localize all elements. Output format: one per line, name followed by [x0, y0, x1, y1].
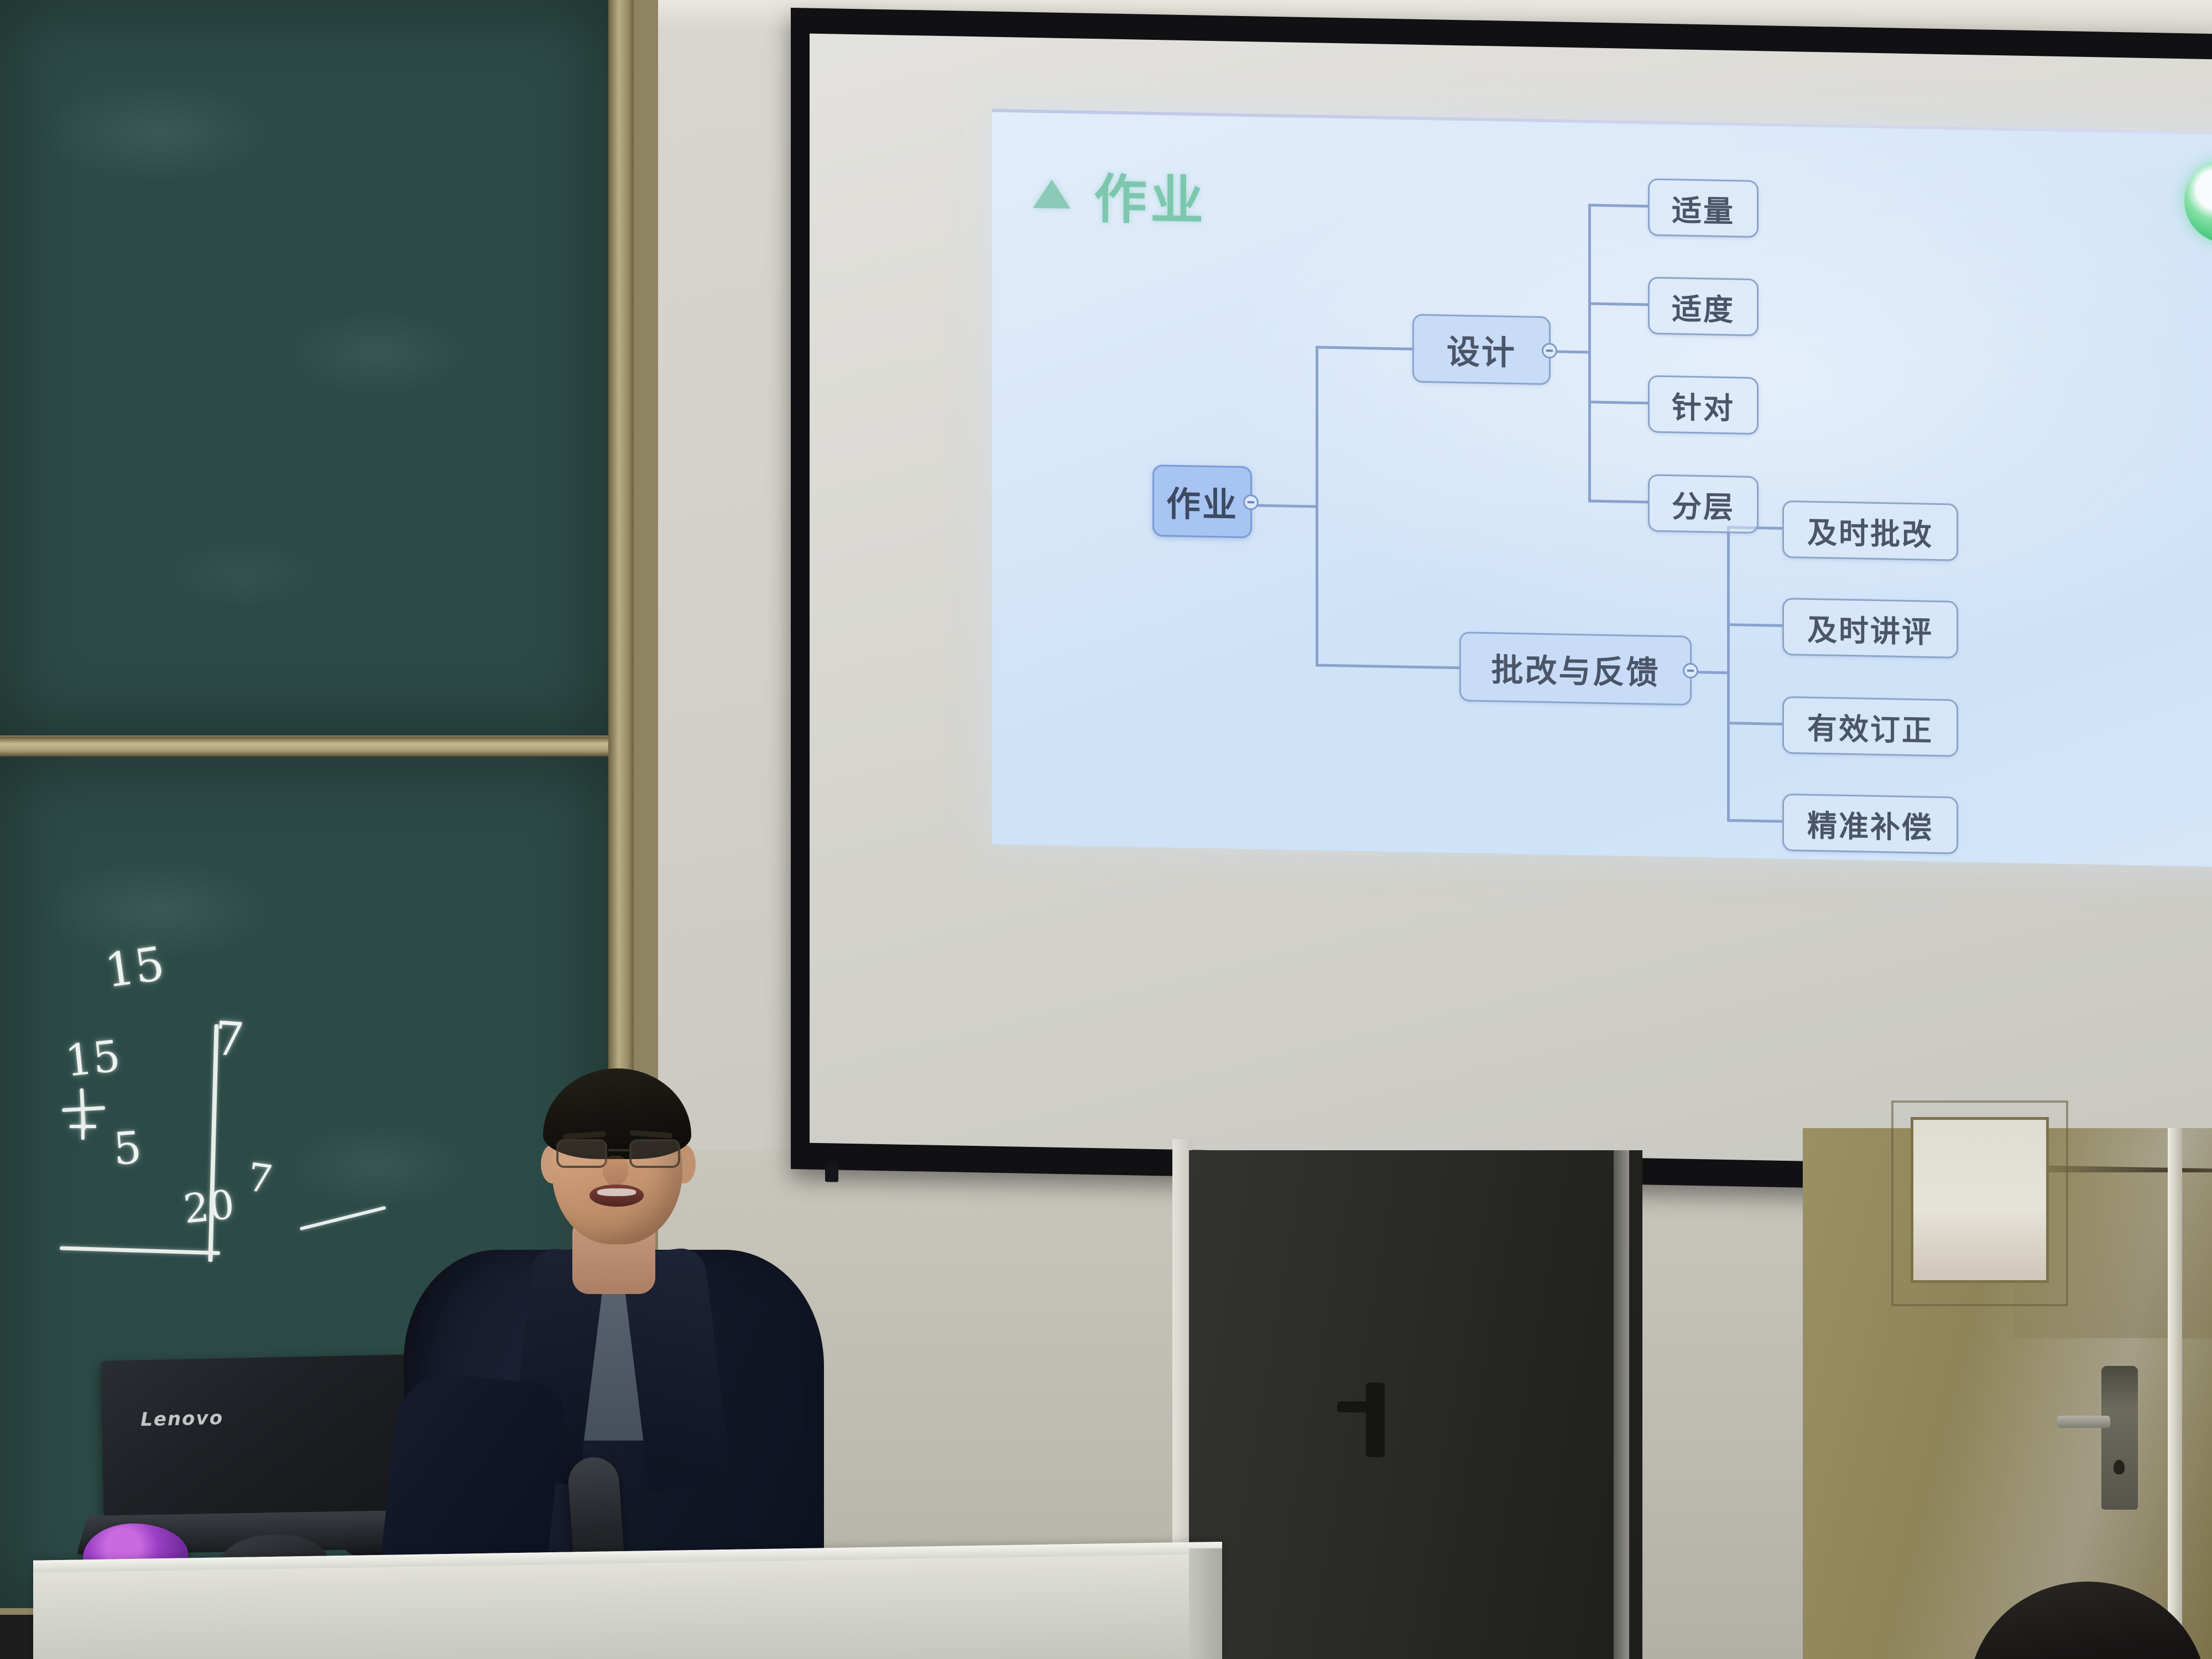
- door-jamb-right: [2168, 1128, 2182, 1659]
- mindmap-leaf[interactable]: 适量: [1648, 178, 1759, 238]
- mindmap-link: [1252, 504, 1318, 508]
- mindmap-leaf-label: 有效订正: [1807, 703, 1933, 749]
- glasses-lens-left: [556, 1139, 607, 1168]
- homework-mindmap: 作业 设计 批改与反馈 适量 适度: [992, 109, 2212, 868]
- teacher-nose: [603, 1156, 628, 1186]
- mindmap-root-node[interactable]: 作业: [1152, 465, 1252, 538]
- lecturing-teacher: [404, 1067, 824, 1620]
- lenovo-laptop[interactable]: Lenovo: [101, 1354, 414, 1527]
- door-edge-light: [1614, 1150, 1629, 1659]
- mindmap-branch-feedback[interactable]: 批改与反馈: [1459, 632, 1692, 706]
- mindmap-leaf-label: 精准补偿: [1807, 801, 1933, 847]
- collapse-toggle-icon[interactable]: [1542, 343, 1557, 359]
- door-handle-dark[interactable]: [1366, 1383, 1385, 1457]
- mindmap-leaf[interactable]: 精准补偿: [1782, 794, 1958, 854]
- mindmap-leaf[interactable]: 及时讲评: [1782, 598, 1958, 659]
- mindmap-link: [1727, 623, 1782, 627]
- mindmap-leaf[interactable]: 及时批改: [1782, 500, 1958, 561]
- mindmap-leaf-label: 及时讲评: [1807, 605, 1933, 651]
- glasses-lens-right: [629, 1139, 680, 1168]
- mindmap-link: [1727, 819, 1782, 823]
- podium-side: [1189, 1548, 1222, 1659]
- mindmap-leaf[interactable]: 适度: [1648, 276, 1759, 336]
- mindmap-leaf[interactable]: 分层: [1648, 474, 1759, 534]
- mindmap-link: [1316, 346, 1318, 666]
- screen-weight-tab: [825, 1163, 838, 1182]
- mindmap-branch-label: 设计: [1447, 325, 1516, 374]
- mindmap-leaf-label: 适量: [1672, 186, 1735, 231]
- projection-screen: 作业: [791, 8, 2212, 1195]
- mindmap-link: [1316, 346, 1412, 350]
- mindmap-root-label: 作业: [1166, 476, 1238, 526]
- door-keyhole-icon: [2114, 1460, 2125, 1474]
- mindmap-branch-design[interactable]: 设计: [1412, 314, 1551, 385]
- blackboard-divider: [0, 737, 611, 757]
- teacher-mouth: [589, 1185, 644, 1207]
- mindmap-leaf-label: 分层: [1672, 482, 1735, 526]
- mindmap-leaf-label: 适度: [1672, 284, 1735, 329]
- chalk-note: 15: [63, 1031, 123, 1087]
- mindmap-link: [1588, 400, 1648, 404]
- screen-surface: 作业: [810, 34, 2212, 1169]
- mindmap-link: [1727, 526, 1730, 822]
- mindmap-leaf[interactable]: 针对: [1648, 375, 1759, 435]
- dark-doorway[interactable]: [1189, 1150, 1642, 1659]
- collapse-toggle-icon[interactable]: [1243, 494, 1259, 510]
- chalk-note: 15: [102, 936, 168, 998]
- mindmap-leaf-label: 针对: [1672, 383, 1735, 427]
- door-window-panel: [1911, 1117, 2049, 1283]
- classroom-scene: 15157+5207 作业: [0, 0, 2212, 1659]
- projected-slide: 作业: [992, 109, 2212, 868]
- mindmap-link: [1588, 204, 1591, 502]
- door-lever-handle[interactable]: [2057, 1416, 2110, 1428]
- mindmap-branch-label: 批改与反馈: [1491, 644, 1660, 693]
- mindmap-link: [1588, 302, 1648, 306]
- mindmap-link: [1727, 722, 1782, 726]
- door-lock-plate[interactable]: [2101, 1366, 2138, 1510]
- mindmap-link: [1588, 499, 1648, 503]
- mindmap-leaf[interactable]: 有效订正: [1782, 696, 1958, 757]
- chalk-note: 5: [112, 1121, 143, 1175]
- collapse-toggle-icon[interactable]: [1683, 663, 1698, 679]
- blackboard-panel-top: [0, 0, 608, 735]
- mindmap-leaf-label: 及时批改: [1807, 508, 1933, 554]
- mindmap-link: [1588, 204, 1648, 207]
- lenovo-logo: Lenovo: [140, 1407, 224, 1431]
- glasses-bridge: [608, 1149, 629, 1151]
- mindmap-link: [1316, 664, 1459, 669]
